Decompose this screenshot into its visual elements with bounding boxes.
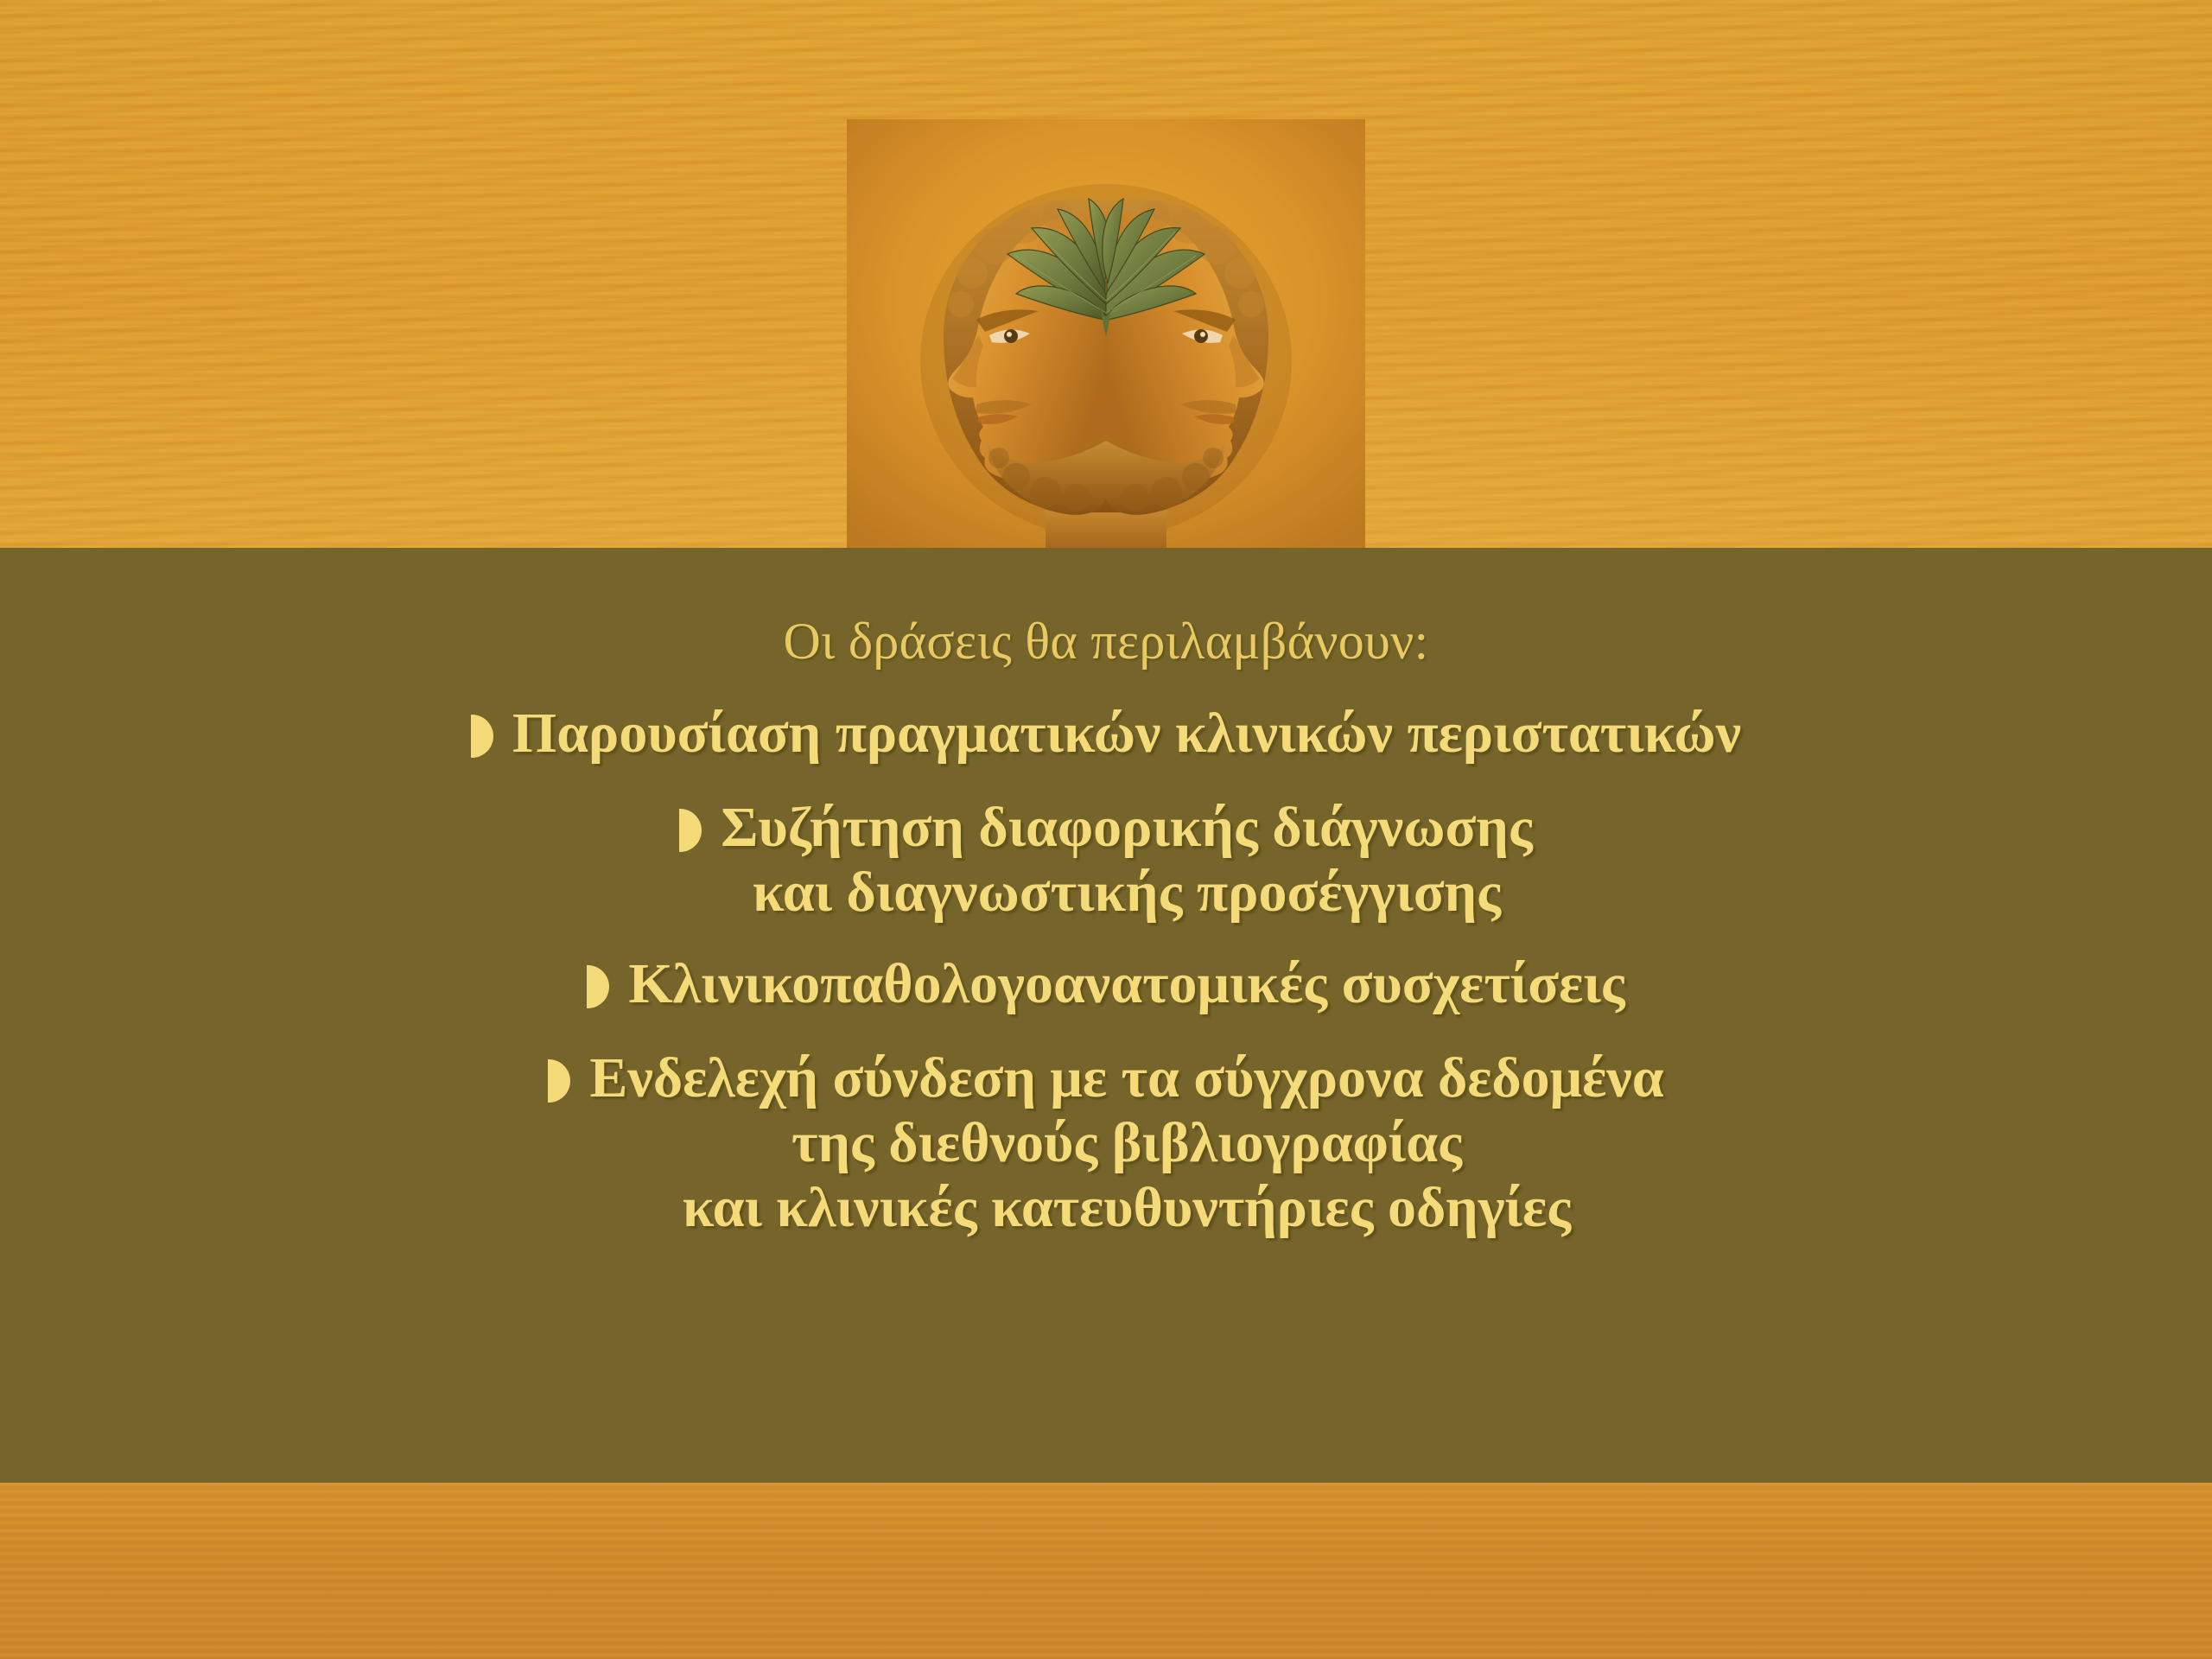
bullet-text: Κλινικοπαθολογοανατομικές συσχετίσεις xyxy=(628,951,1624,1016)
half-disc-bullet-icon xyxy=(471,715,493,758)
list-item: Παρουσίαση πραγματικών κλινικών περιστατ… xyxy=(0,701,2212,766)
bullet-text: Ενδελεχή σύνδεση με τα σύγχρονα δεδομένα… xyxy=(589,1046,1663,1241)
bullet-list: Παρουσίαση πραγματικών κλινικών περιστατ… xyxy=(0,701,2212,1241)
bullet-text: Συζήτηση διαφορικής διάγνωσης και διαγνω… xyxy=(721,795,1532,925)
half-disc-bullet-icon xyxy=(587,965,609,1008)
half-disc-bullet-icon xyxy=(548,1059,570,1103)
content-panel-inner: Οι δράσεις θα περιλαμβάνουν: Παρουσίαση … xyxy=(0,548,2212,1483)
list-item: Συζήτηση διαφορικής διάγνωσης και διαγνω… xyxy=(0,795,2212,925)
presentation-slide: Οι δράσεις θα περιλαμβάνουν: Παρουσίαση … xyxy=(0,0,2212,1659)
list-item: Κλινικοπαθολογοανατομικές συσχετίσεις xyxy=(0,951,2212,1016)
lead-text: Οι δράσεις θα περιλαμβάνουν: xyxy=(0,613,2212,670)
list-item: Ενδελεχή σύνδεση με τα σύγχρονα δεδομένα… xyxy=(0,1046,2212,1241)
janus-two-faced-god-icon xyxy=(847,119,1365,551)
content-panel: Οι δράσεις θα περιλαμβάνουν: Παρουσίαση … xyxy=(0,548,2212,1483)
bottom-accent-band xyxy=(0,1483,2212,1659)
janus-illustration xyxy=(847,119,1365,551)
half-disc-bullet-icon xyxy=(679,809,702,852)
bullet-text: Παρουσίαση πραγματικών κλινικών περιστατ… xyxy=(512,701,1741,766)
